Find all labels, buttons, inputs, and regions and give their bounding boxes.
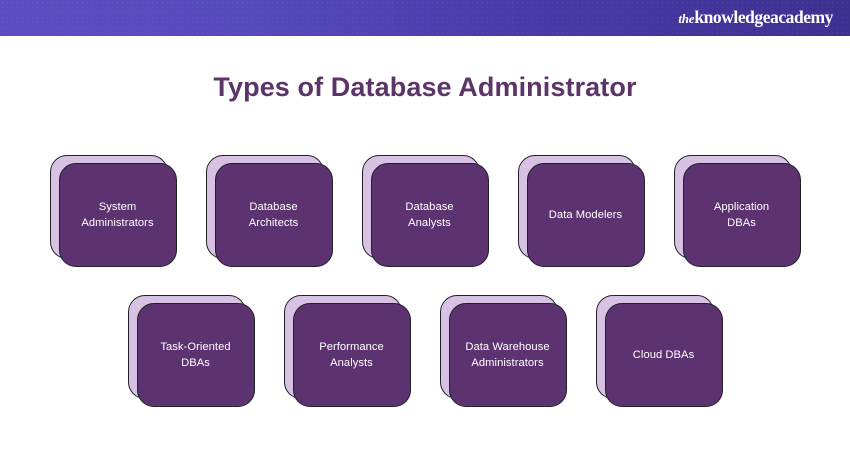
card-label: Task-Oriented DBAs [160, 339, 230, 371]
card-face: Cloud DBAs [605, 303, 723, 407]
header-banner: theknowledgeacademy [0, 0, 850, 36]
dba-type-card[interactable]: Data Modelers [518, 155, 645, 267]
dba-type-card[interactable]: Database Analysts [362, 155, 489, 267]
card-face: Database Analysts [371, 163, 489, 267]
card-row-first: System AdministratorsDatabase Architects… [0, 155, 850, 267]
brand-logo: theknowledgeacademy [678, 9, 833, 27]
page-title: Types of Database Administrator [0, 72, 850, 103]
card-face: Data Modelers [527, 163, 645, 267]
card-label: Performance Analysts [319, 339, 384, 371]
card-label: System Administrators [81, 199, 153, 231]
card-face: System Administrators [59, 163, 177, 267]
dba-type-card[interactable]: Task-Oriented DBAs [128, 295, 255, 407]
brand-logo-prefix: the [678, 11, 694, 26]
card-label: Application DBAs [714, 199, 769, 231]
card-row-second: Task-Oriented DBAsPerformance AnalystsDa… [0, 295, 850, 407]
card-label: Cloud DBAs [633, 347, 694, 363]
card-face: Task-Oriented DBAs [137, 303, 255, 407]
dba-type-card[interactable]: Data Warehouse Administrators [440, 295, 567, 407]
card-label: Database Analysts [405, 199, 453, 231]
card-label: Data Warehouse Administrators [465, 339, 549, 371]
dba-type-card[interactable]: Application DBAs [674, 155, 801, 267]
brand-logo-name: knowledgeacademy [694, 7, 833, 27]
card-label: Database Architects [249, 199, 299, 231]
card-face: Performance Analysts [293, 303, 411, 407]
card-face: Data Warehouse Administrators [449, 303, 567, 407]
dba-type-card[interactable]: Performance Analysts [284, 295, 411, 407]
dba-type-card[interactable]: Database Architects [206, 155, 333, 267]
dba-type-card[interactable]: Cloud DBAs [596, 295, 723, 407]
dba-type-card[interactable]: System Administrators [50, 155, 177, 267]
card-face: Application DBAs [683, 163, 801, 267]
card-label: Data Modelers [549, 207, 622, 223]
card-face: Database Architects [215, 163, 333, 267]
